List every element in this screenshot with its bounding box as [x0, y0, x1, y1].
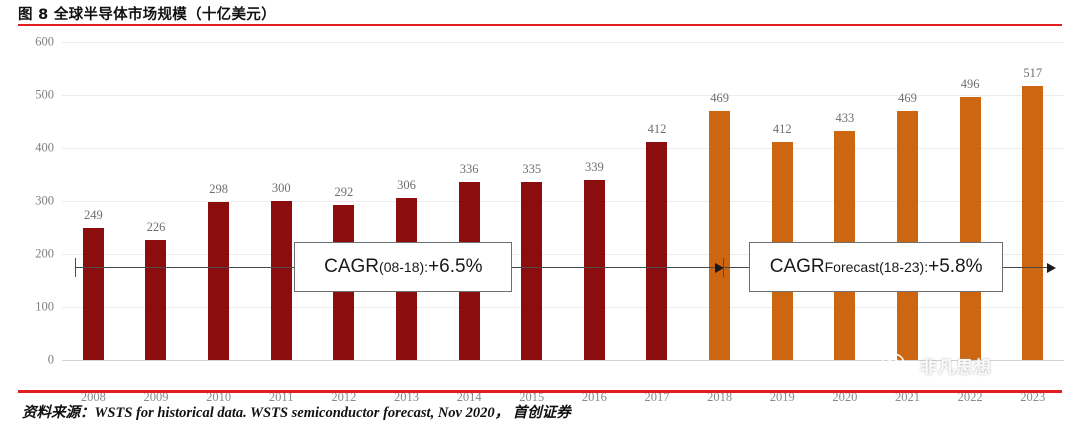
cagr-historical-period-text: (08-18):	[379, 259, 428, 275]
y-axis-tick-label: 600	[35, 35, 54, 50]
cagr-historical-value-text: +6.5%	[428, 256, 482, 278]
cagr-forecast-arrow-head	[1047, 263, 1056, 273]
bar-value-label: 249	[84, 208, 103, 223]
y-axis-tick-label: 400	[35, 141, 54, 156]
y-axis-tick-label: 0	[48, 353, 54, 368]
bar-2018	[709, 111, 730, 360]
source-text: 资料来源：WSTS for historical data. WSTS semi…	[22, 401, 571, 422]
bar-value-label: 339	[585, 160, 604, 175]
bar-value-label: 469	[710, 91, 729, 106]
bar-value-label: 306	[397, 178, 416, 193]
x-axis-baseline	[62, 360, 1064, 361]
bar-value-label: 292	[334, 185, 353, 200]
footer-divider-bottom	[18, 390, 1062, 393]
source-footer: 资料来源：WSTS for historical data. WSTS semi…	[22, 397, 1062, 425]
bars-layer: 2492262983002923063363353394124694124334…	[62, 28, 1064, 360]
page-title: 图 8 全球半导体市场规模（十亿美元）	[18, 3, 276, 24]
bar-2009	[145, 240, 166, 360]
y-axis-tick-label: 200	[35, 247, 54, 262]
chart-plot-area: 0100200300400500600 24922629830029230633…	[0, 28, 1080, 360]
bar-value-label: 517	[1023, 66, 1042, 81]
bar-value-label: 298	[209, 182, 228, 197]
cagr-forecast-main-text: CAGR	[770, 256, 825, 278]
y-axis-tick-label: 300	[35, 194, 54, 209]
cagr-forecast-label-box: CAGR Forecast(18-23):+5.8%	[749, 242, 1003, 292]
bar-value-label: 412	[773, 122, 792, 137]
bar-value-label: 496	[961, 77, 980, 92]
bar-value-label: 336	[460, 162, 479, 177]
bar-2021	[897, 111, 918, 360]
bar-2015	[521, 182, 542, 360]
bar-2016	[584, 180, 605, 360]
figure-container: 图 8 全球半导体市场规模（十亿美元） 0100200300400500600 …	[0, 0, 1080, 429]
bar-value-label: 300	[272, 181, 291, 196]
bar-2008	[83, 228, 104, 360]
cagr-historical-label-box: CAGR(08-18):+6.5%	[294, 242, 512, 292]
bar-value-label: 226	[147, 220, 166, 235]
y-axis-tick-label: 500	[35, 88, 54, 103]
bar-value-label: 469	[898, 91, 917, 106]
figure-title-bar: 图 8 全球半导体市场规模（十亿美元）	[18, 2, 1062, 24]
bar-value-label: 335	[522, 162, 541, 177]
bar-value-label: 412	[648, 122, 667, 137]
title-divider-top	[18, 24, 1062, 26]
cagr-forecast-period-text: Forecast(18-23):	[825, 259, 928, 275]
cagr-forecast-value-text: +5.8%	[928, 256, 982, 278]
y-axis-tick-label: 100	[35, 300, 54, 315]
cagr-historical-arrow-tail	[75, 258, 76, 277]
cagr-forecast-arrow-tail	[723, 258, 724, 277]
y-axis: 0100200300400500600	[0, 28, 62, 360]
cagr-historical-main-text: CAGR	[324, 256, 379, 278]
bar-2011	[271, 201, 292, 360]
bar-2010	[208, 202, 229, 360]
bar-value-label: 433	[835, 111, 854, 126]
bar-2022	[960, 97, 981, 360]
bar-2023	[1022, 86, 1043, 360]
bar-2017	[646, 142, 667, 360]
